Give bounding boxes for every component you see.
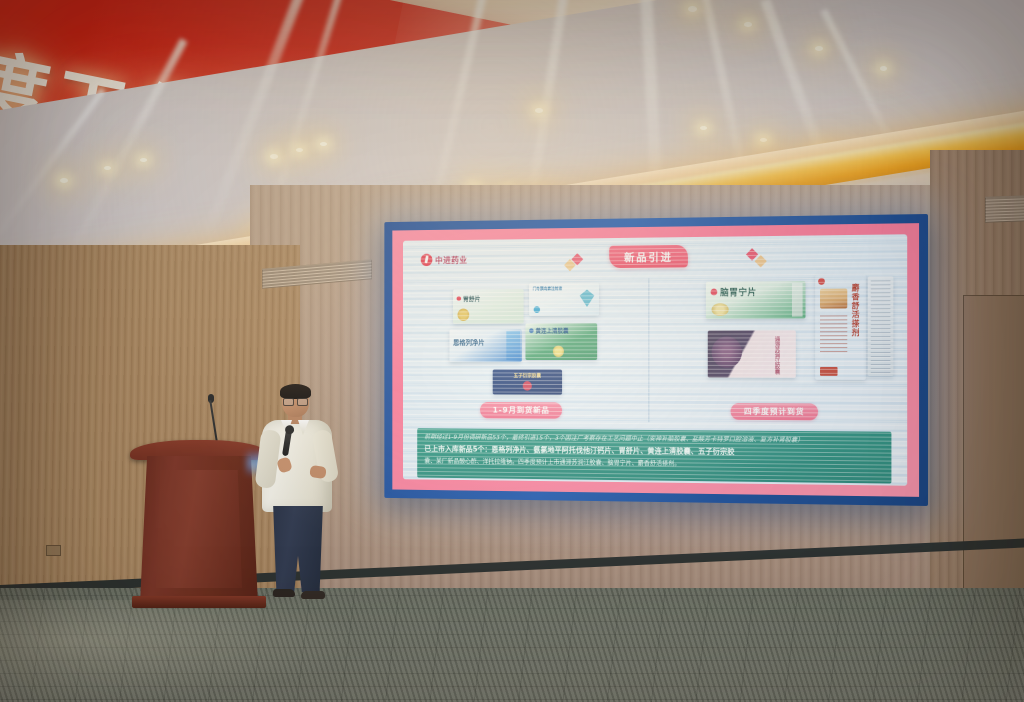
- ceiling-downlight: [320, 142, 327, 146]
- ceiling-downlight: [60, 178, 68, 183]
- slide-note-box: 前期经过1-9月份调研新品53个，最终引进15个，3个因注厂考察存在工艺问题中止…: [417, 428, 891, 483]
- ceiling-downlight: [270, 154, 278, 159]
- product-illustration: [820, 289, 847, 309]
- product-image: 黄连上清胶囊: [525, 323, 597, 360]
- podium-front-panel: [156, 470, 242, 588]
- presenter-shoe: [301, 591, 325, 599]
- product-emblem-icon: [523, 381, 532, 391]
- ceiling-downlight: [535, 108, 543, 113]
- product-image: 胃舒片: [453, 289, 524, 324]
- ceiling-downlight: [688, 6, 697, 12]
- product-badge: [820, 367, 838, 376]
- product-insert-leaflet: [868, 276, 894, 376]
- ceiling-downlight: [880, 66, 887, 71]
- presenter-trousers: [271, 506, 325, 592]
- product-name: 五子衍宗胶囊: [514, 372, 541, 379]
- glasses-icon: [283, 398, 308, 404]
- product-logo-icon: [711, 289, 718, 296]
- product-logo-icon: [818, 278, 825, 285]
- presenter: [248, 386, 353, 608]
- company-logo: 中进药业: [421, 253, 468, 266]
- product-name: 恩格列净片: [453, 338, 485, 348]
- product-name: 胃舒片: [463, 293, 481, 303]
- ceiling-downlight: [296, 148, 303, 152]
- presenter-shoe: [273, 589, 295, 597]
- product-image: 麝香舒活搽剂: [815, 275, 866, 380]
- presentation-slide: 中进药业 新品引进 胃舒片 门冬胰岛素注射液: [403, 234, 907, 485]
- ceiling-downlight: [700, 126, 707, 130]
- led-display-screen[interactable]: 中进药业 新品引进 胃舒片 门冬胰岛素注射液: [384, 214, 928, 506]
- leaflet-text-lines: [871, 279, 891, 373]
- product-seal-icon: [712, 303, 729, 316]
- product-image: 通滞苏润江胶囊: [708, 330, 796, 377]
- product-side-panel: [792, 283, 803, 317]
- product-seal-icon: [553, 346, 564, 358]
- product-name: 通滞苏润江胶囊: [773, 336, 781, 374]
- product-graphic-icon: [580, 289, 595, 306]
- ceiling-downlight: [104, 166, 111, 170]
- slide-outer-border: 中进药业 新品引进 胃舒片 门冬胰岛素注射液: [392, 223, 919, 497]
- door[interactable]: [963, 295, 1024, 627]
- product-name: 黄连上清胶囊: [535, 326, 568, 335]
- slide-title: 新品引进: [609, 245, 688, 268]
- product-text-block: [820, 312, 847, 352]
- product-logo-icon: [457, 296, 461, 301]
- logo-mark-icon: [421, 254, 433, 266]
- ceiling-downlight: [140, 158, 147, 162]
- product-graphic-icon: [712, 336, 742, 367]
- product-name: 门冬胰岛素注射液: [533, 286, 562, 292]
- product-mark-icon: [534, 306, 540, 313]
- podium-base: [132, 596, 266, 608]
- product-seal-icon: [458, 309, 470, 321]
- product-image: 恩格列净片: [449, 329, 521, 362]
- product-image: 脑胃宁片: [706, 281, 806, 319]
- section-label-right: 四季度预计到货: [731, 403, 819, 420]
- product-name: 麝香舒活搽剂: [850, 284, 861, 338]
- product-name: 脑胃宁片: [720, 285, 757, 298]
- product-image: 门冬胰岛素注射液: [529, 283, 599, 316]
- presenter-hair: [280, 384, 311, 399]
- power-outlet: [46, 545, 61, 556]
- product-logo-icon: [529, 328, 534, 333]
- column-divider: [648, 278, 649, 422]
- section-label-left: 1-9月到货新品: [480, 402, 562, 419]
- ceiling-downlight: [760, 138, 767, 142]
- presenter-hand: [309, 465, 327, 479]
- logo-text: 中进药业: [435, 254, 467, 266]
- product-blister-icon: [506, 331, 520, 360]
- conference-room-scene: 三季度工作总结暨四季度: [0, 0, 1024, 702]
- ceiling-downlight: [815, 46, 823, 51]
- air-vent-icon: [985, 195, 1024, 222]
- ceiling-downlight: [744, 22, 752, 27]
- product-image: 五子衍宗胶囊: [493, 370, 562, 395]
